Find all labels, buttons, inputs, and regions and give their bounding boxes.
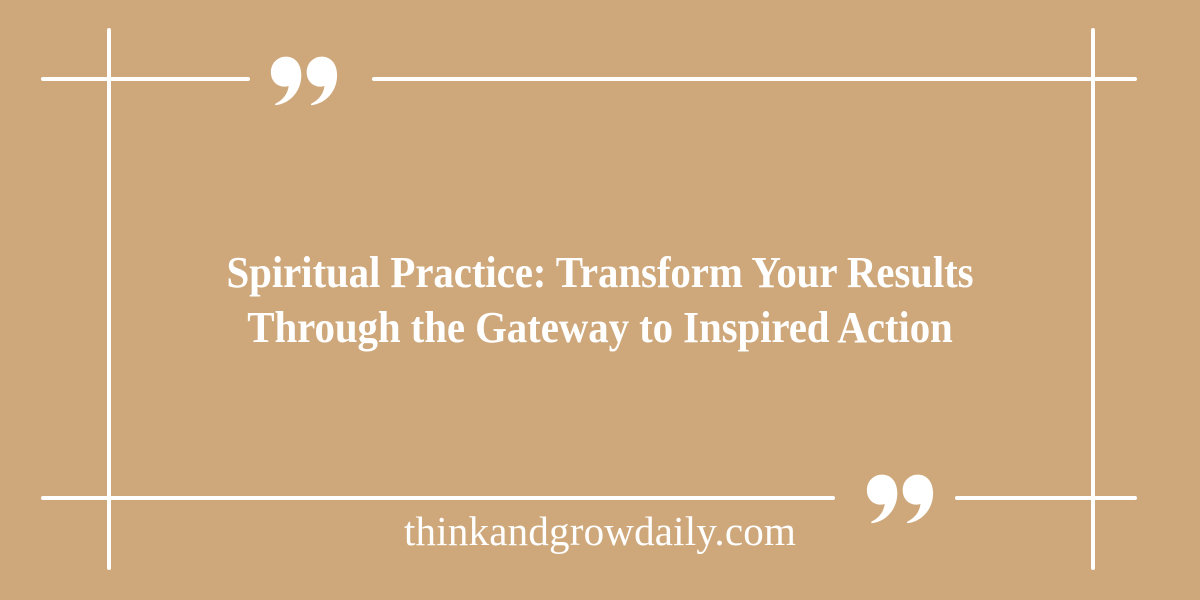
quote-open-icon — [270, 56, 338, 108]
rule-bottom-left — [41, 496, 835, 500]
site-url: thinkandgrowdaily.com — [0, 505, 1200, 557]
rule-bottom-right — [955, 496, 1137, 500]
rule-vertical-right — [1091, 28, 1095, 570]
page-title: Spiritual Practice: Transform Your Resul… — [144, 245, 1055, 355]
rule-vertical-left — [107, 28, 111, 570]
quote-card: Spiritual Practice: Transform Your Resul… — [0, 0, 1200, 600]
rule-top-left — [41, 77, 250, 81]
rule-top-right — [372, 77, 1137, 81]
